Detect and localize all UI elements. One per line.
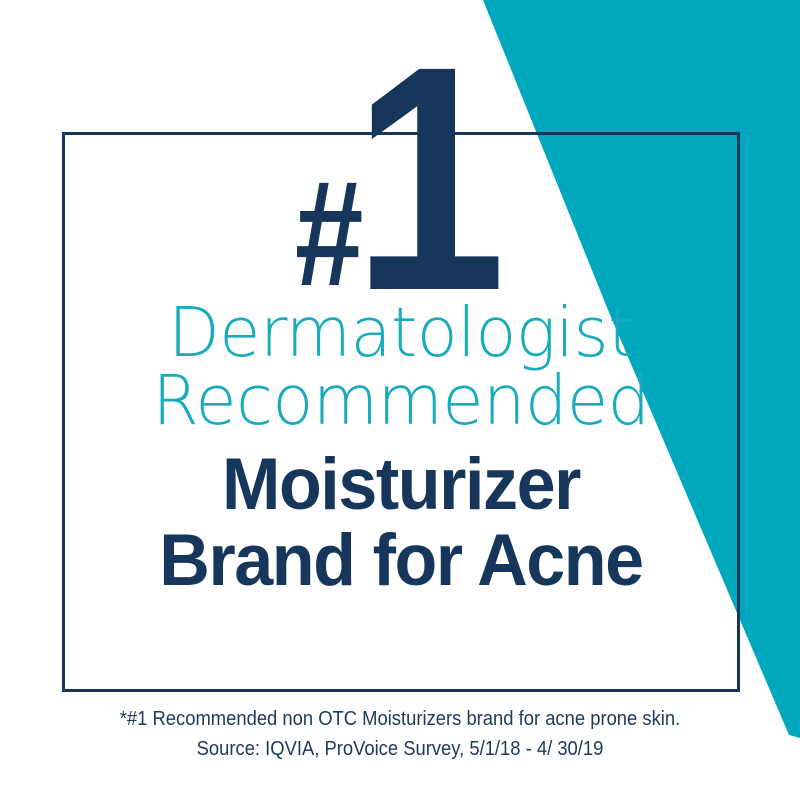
headline-line-recommended: Recommended [72, 368, 730, 436]
headline-line-dermatologist: Dermatologist [72, 300, 730, 368]
headline-block: Dermatologist Recommended Moisturizer Br… [62, 300, 740, 596]
rank-hash-symbol: # [295, 158, 358, 308]
rank-badge: #1 [0, 18, 800, 338]
footnote-source-line: Source: IQVIA, ProVoice Survey, 5/1/18 -… [32, 734, 768, 764]
headline-line-brand-for-acne: Brand for Acne [76, 525, 727, 597]
rank-number: 1 [353, 18, 496, 338]
promo-poster: #1 Dermatologist Recommended Moisturizer… [0, 0, 800, 800]
headline-line-moisturizer: Moisturizer [76, 449, 727, 521]
footnote-block: *#1 Recommended non OTC Moisturizers bra… [0, 704, 800, 764]
footnote-claim-line: *#1 Recommended non OTC Moisturizers bra… [32, 704, 768, 734]
